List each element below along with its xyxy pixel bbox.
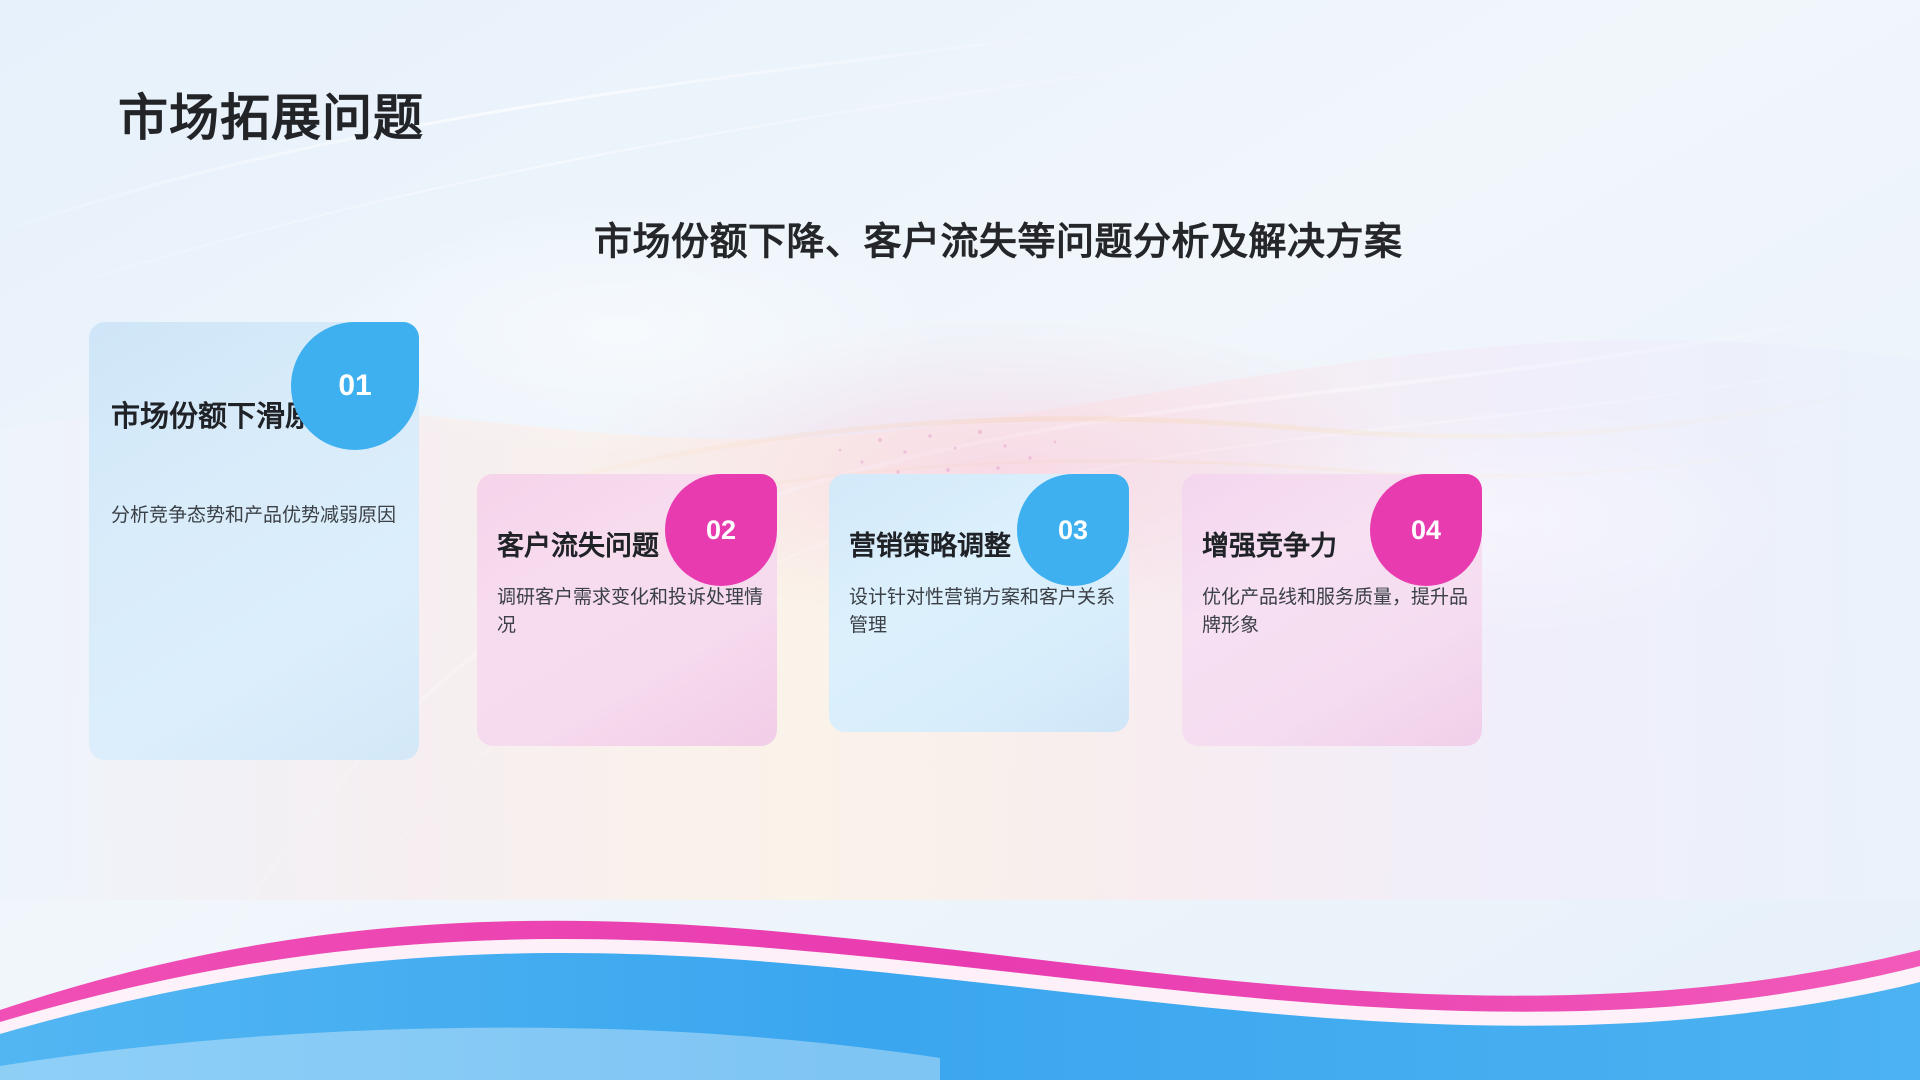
card-item-04[interactable]: 04 增强竞争力 优化产品线和服务质量，提升品牌形象 — [1182, 474, 1482, 746]
card-item-02[interactable]: 02 客户流失问题 调研客户需求变化和投诉处理情况 — [477, 474, 777, 746]
card-number-badge-01: 01 — [291, 322, 419, 450]
card-item-01[interactable]: 01 市场份额下滑原因 分析竞争态势和产品优势减弱原因 — [89, 322, 419, 760]
card-item-03[interactable]: 03 营销策略调整 设计针对性营销方案和客户关系管理 — [829, 474, 1129, 732]
card-description-03: 设计针对性营销方案和客户关系管理 — [849, 584, 1121, 639]
card-number-badge-04: 04 — [1370, 474, 1482, 586]
card-number-badge-03: 03 — [1017, 474, 1129, 586]
card-number-badge-02: 02 — [665, 474, 777, 586]
card-description-02: 调研客户需求变化和投诉处理情况 — [497, 584, 769, 639]
slide-canvas: 市场拓展问题 市场份额下降、客户流失等问题分析及解决方案 01 市场份额下滑原因… — [0, 0, 1920, 1080]
page-title: 市场拓展问题 — [118, 78, 424, 150]
card-description-01: 分析竞争态势和产品优势减弱原因 — [111, 502, 405, 530]
card-description-04: 优化产品线和服务质量，提升品牌形象 — [1202, 584, 1474, 639]
page-subtitle: 市场份额下降、客户流失等问题分析及解决方案 — [594, 211, 1403, 266]
